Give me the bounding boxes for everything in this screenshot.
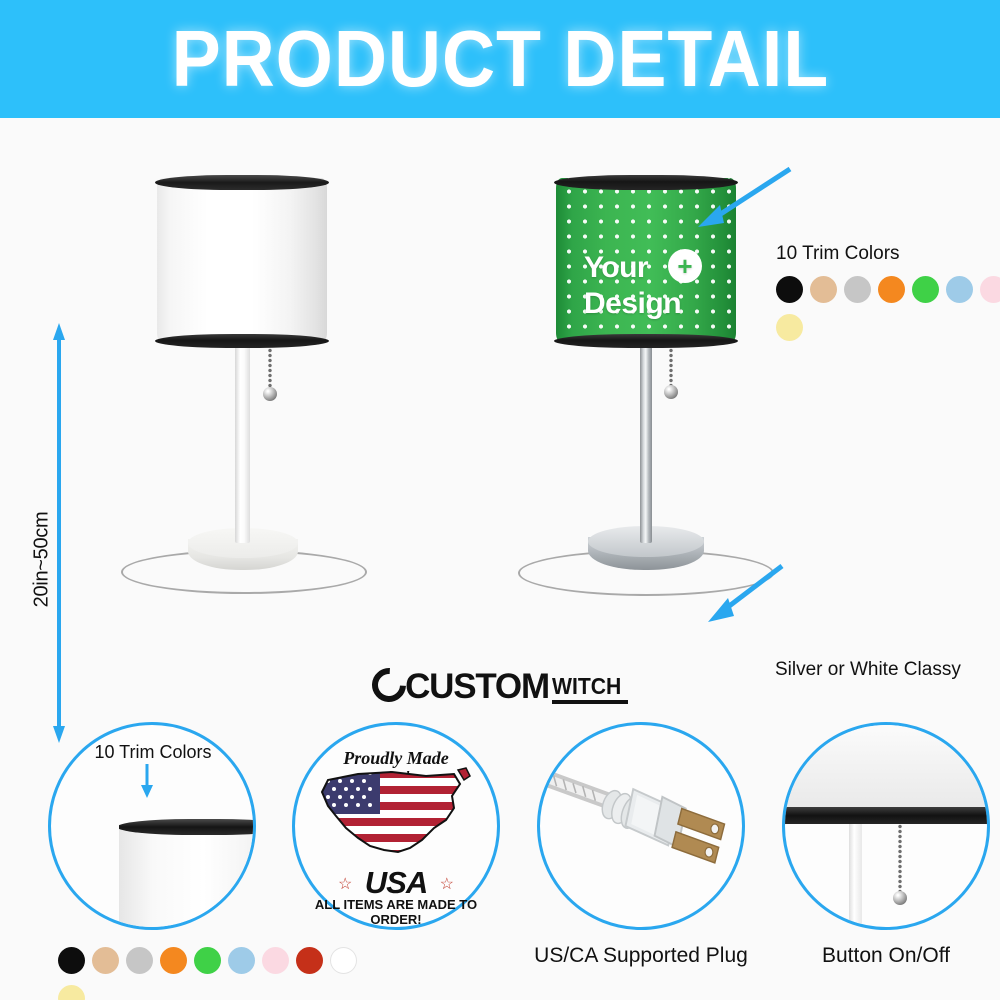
star-icon-right: ☆ [440,874,454,894]
shade-trim-top [155,175,329,190]
trim-swatch-gray[interactable] [126,947,153,974]
your-design-placeholder: Your Design + [584,253,681,319]
trim-colors-legend: 10 Trim Colors [776,243,1000,341]
trim-swatch-gray[interactable] [844,276,871,303]
shade-trim-bottom [155,334,329,348]
trim-swatch-green[interactable] [194,947,221,974]
main-panel: 7in~18cm 20in~50cm [0,118,1000,698]
trim-swatch-black[interactable] [58,947,85,974]
feature-circle [537,722,745,930]
shade-closeup [119,815,256,930]
pull-chain-closeup[interactable] [897,824,903,894]
your-design-line1: Your [584,253,681,283]
logo-witch-text: WITCH [552,675,622,698]
lamp-shade [157,178,327,343]
trim-swatch-lightblue[interactable] [228,947,255,974]
lamp-pole [235,338,250,543]
trim-swatch-yellow[interactable] [776,314,803,341]
feature-trim-colors-title: 10 Trim Colors [58,742,248,763]
logo-underline [552,700,628,704]
logo-custom-text: CUSTOM [405,669,549,704]
trim-swatch-red[interactable] [296,947,323,974]
trim-swatch-row-2 [58,985,357,1000]
trim-swatch-pink[interactable] [262,947,289,974]
pull-chain-ball[interactable] [664,385,678,399]
trim-swatch-black[interactable] [776,276,803,303]
usa-flag-map-icon [314,762,478,864]
star-icon-left: ☆ [338,874,352,894]
brand-logo: CUSTOM WITCH [0,660,1000,712]
product-detail-infographic: PRODUCT DETAIL 7in~18cm 20in~50cm [0,0,1000,1000]
feature-button-label: Button On/Off [752,944,1000,968]
trim-swatch-yellow[interactable] [58,985,85,1000]
white-lamp [120,178,400,638]
shade-trim-top [554,175,738,190]
trim-colors-title: 10 Trim Colors [776,243,1000,265]
usa-country-text: USA [292,865,500,901]
shade-trim-bottom [554,334,738,348]
features-row: 10 Trim Colors Proudly Made in the [0,712,1000,1000]
trim-swatch-row-2 [776,314,1000,341]
usa-badge: Proudly Made in the [292,722,500,930]
your-design-line2: Design [584,289,681,319]
shade-bottom-closeup [785,725,990,809]
feature-trim-swatches [58,936,357,1000]
trim-swatch-orange[interactable] [878,276,905,303]
usa-subtitle: ALL ITEMS ARE MADE TO ORDER! [292,897,500,927]
trim-swatch-pink[interactable] [980,276,1000,303]
height-dimension-label: 20in~50cm [30,512,53,608]
shade-trim-closeup [119,819,256,835]
trim-swatch-lightblue[interactable] [946,276,973,303]
trim-swatch-row-1 [776,276,1000,303]
trim-swatch-orange[interactable] [160,947,187,974]
trim-colors-arrow [690,163,800,233]
trim-swatch-row-1 [58,947,357,974]
lamp-pole-closeup [849,824,862,930]
pull-chain-ball[interactable] [263,387,277,401]
plus-icon: + [668,249,702,283]
trim-swatch-tan[interactable] [92,947,119,974]
trim-swatch-green[interactable] [912,276,939,303]
feature-plug-label: US/CA Supported Plug [497,944,785,968]
trim-swatch-tan[interactable] [810,276,837,303]
page-title: PRODUCT DETAIL [171,13,829,105]
trim-pointer-arrow [140,764,154,798]
feature-circle [782,722,990,930]
trim-swatch-white[interactable] [330,947,357,974]
shade-trim-closeup [785,807,990,824]
pull-chain-ball[interactable] [893,891,907,905]
power-plug-icon [540,725,742,927]
lamp-pole [640,338,652,543]
base-finish-arrow [700,558,790,628]
header-banner: PRODUCT DETAIL [0,0,1000,118]
